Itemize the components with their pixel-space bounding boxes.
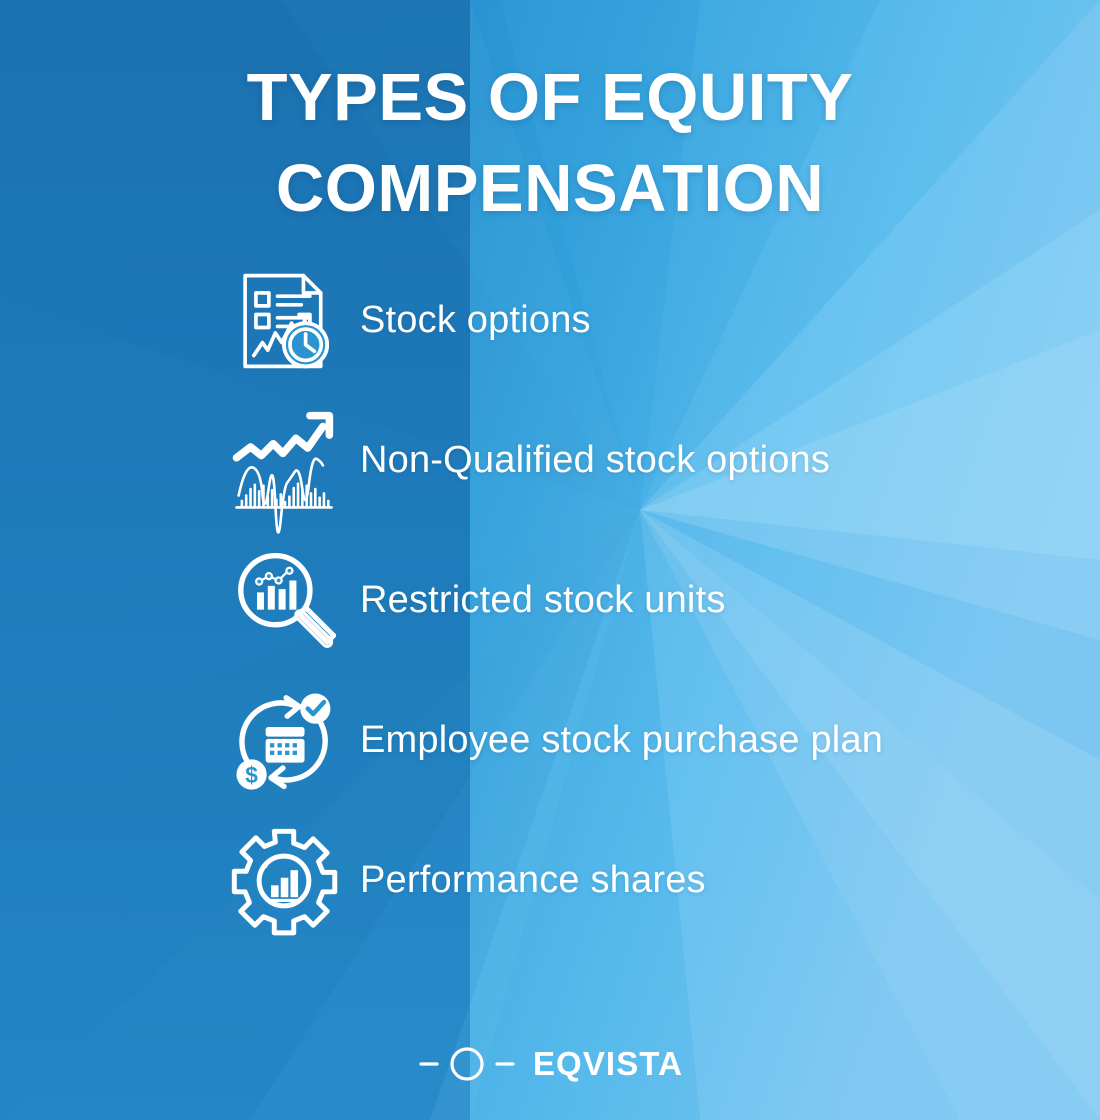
list-item-label: Employee stock purchase plan	[360, 718, 883, 764]
rising-arrow-stock-chart-icon	[222, 405, 346, 517]
document-checklist-chart-clock-icon	[222, 265, 346, 377]
page-title: TYPES OF EQUITY COMPENSATION	[0, 52, 1100, 234]
list-item: Non-Qualified stock options	[222, 402, 1052, 520]
list-item: Restricted stock units	[222, 542, 1052, 660]
dash-circle-dash-icon	[417, 1044, 517, 1084]
gear-bar-chart-icon	[222, 825, 346, 937]
list-item-label: Non-Qualified stock options	[360, 438, 830, 484]
list-item-label: Performance shares	[360, 858, 706, 904]
equity-types-list: Stock options	[222, 262, 1052, 940]
list-item: Performance shares	[222, 822, 1052, 940]
brand-logo: EQVISTA	[0, 1044, 1100, 1084]
list-item-label: Restricted stock units	[360, 578, 726, 624]
list-item: Stock options	[222, 262, 1052, 380]
list-item-label: Stock options	[360, 298, 591, 344]
magnifier-bar-chart-icon	[222, 545, 346, 657]
infographic-poster: TYPES OF EQUITY COMPENSATION	[0, 0, 1100, 1120]
brand-name: EQVISTA	[533, 1045, 683, 1083]
svg-text:$: $	[245, 762, 258, 788]
list-item: $ Employee stock purchase plan	[222, 682, 1052, 800]
calendar-cycle-dollar-check-icon: $	[222, 685, 346, 797]
title-line-1: TYPES OF EQUITY	[90, 52, 1010, 143]
title-line-2: COMPENSATION	[90, 143, 1010, 234]
